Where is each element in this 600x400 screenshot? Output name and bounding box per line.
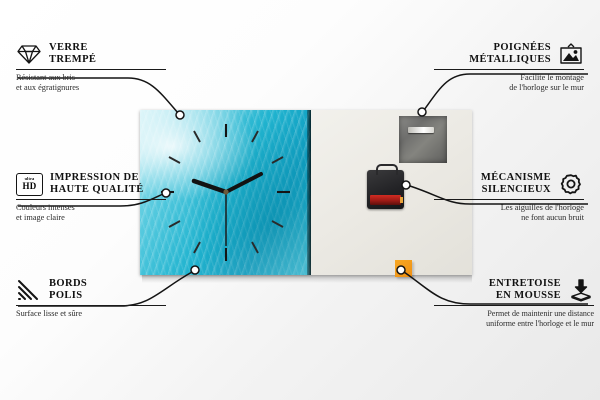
feature-verre-trempe: VERRE TREMPÉ Résistant aux bris et aux é… bbox=[16, 42, 166, 93]
feature-subtitle-line1: Résistant aux bris bbox=[16, 73, 166, 83]
quartz-movement bbox=[367, 170, 404, 209]
feature-divider bbox=[434, 199, 584, 200]
feature-poignees-metalliques: POIGNÉES MÉTALLIQUES Facilite le montage… bbox=[434, 42, 584, 93]
feature-divider bbox=[16, 305, 166, 306]
feature-divider bbox=[434, 305, 594, 306]
feature-title-line2: HAUTE QUALITÉ bbox=[50, 184, 144, 196]
feature-subtitle-line1: Les aiguilles de l'horloge bbox=[434, 203, 584, 213]
feature-title-line2: SILENCIEUX bbox=[481, 184, 551, 196]
feature-header: POIGNÉES MÉTALLIQUES bbox=[434, 42, 584, 66]
feature-subtitle: Permet de maintenir une distance uniform… bbox=[434, 309, 594, 329]
metal-hanger-plate bbox=[399, 116, 447, 163]
feature-subtitle-line1: Couleurs intenses bbox=[16, 203, 166, 213]
feature-title-line1: MÉCANISME bbox=[481, 172, 551, 184]
feature-subtitle-line2: et aux égratignures bbox=[16, 83, 166, 93]
feature-subtitle-line1: Facilite le montage bbox=[434, 73, 584, 83]
feature-title: MÉCANISME SILENCIEUX bbox=[481, 172, 551, 196]
feature-subtitle: Facilite le montage de l'horloge sur le … bbox=[434, 73, 584, 93]
feature-title-line1: BORDS bbox=[49, 278, 87, 290]
diagonal-stripes-icon bbox=[16, 278, 42, 302]
feature-subtitle-line2: ne font aucun bruit bbox=[434, 213, 584, 223]
feature-subtitle: Résistant aux bris et aux égratignures bbox=[16, 73, 166, 93]
feature-mecanisme-silencieux: MÉCANISME SILENCIEUX Les aiguilles de l'… bbox=[434, 172, 584, 223]
feature-subtitle: Surface lisse et sûre bbox=[16, 309, 166, 319]
infographic-canvas: VERRE TREMPÉ Résistant aux bris et aux é… bbox=[0, 0, 600, 400]
hanger-slot bbox=[408, 127, 434, 133]
feature-divider bbox=[434, 69, 584, 70]
feature-subtitle-line1: Permet de maintenir une distance bbox=[434, 309, 594, 319]
feature-subtitle: Les aiguilles de l'horloge ne font aucun… bbox=[434, 203, 584, 223]
feature-header: BORDS POLIS bbox=[16, 278, 166, 302]
feature-subtitle-line1: Surface lisse et sûre bbox=[16, 309, 166, 319]
feature-title-line1: VERRE bbox=[49, 42, 96, 54]
product-shadow bbox=[142, 274, 472, 283]
gear-icon bbox=[558, 172, 584, 196]
feature-subtitle-line2: de l'horloge sur le mur bbox=[434, 83, 584, 93]
feature-title: BORDS POLIS bbox=[49, 278, 87, 302]
feature-divider bbox=[16, 199, 166, 200]
feature-header: ultra HD IMPRESSION DE HAUTE QUALITÉ bbox=[16, 172, 166, 196]
hour-hand bbox=[194, 181, 226, 192]
picture-hanger-icon bbox=[558, 42, 584, 66]
feature-title: IMPRESSION DE HAUTE QUALITÉ bbox=[50, 172, 144, 196]
feature-entretoise-en-mousse: ENTRETOISE EN MOUSSE Permet de maintenir… bbox=[434, 278, 594, 329]
ultra-hd-large-text: HD bbox=[23, 182, 37, 191]
feature-subtitle-line2: et image claire bbox=[16, 213, 166, 223]
feature-title-line2: TREMPÉ bbox=[49, 54, 96, 66]
feature-title-line1: IMPRESSION DE bbox=[50, 172, 144, 184]
movement-bail bbox=[376, 164, 398, 175]
ultra-hd-badge-icon: ultra HD bbox=[16, 173, 43, 196]
feature-title-line1: ENTRETOISE bbox=[489, 278, 561, 290]
feature-impression-haute-qualite: ultra HD IMPRESSION DE HAUTE QUALITÉ Cou… bbox=[16, 172, 166, 223]
feature-title-line2: MÉTALLIQUES bbox=[469, 54, 551, 66]
feature-divider bbox=[16, 69, 166, 70]
feature-subtitle-line2: uniforme entre l'horloge et le mur bbox=[434, 319, 594, 329]
hands-hub bbox=[223, 189, 228, 194]
feature-header: ENTRETOISE EN MOUSSE bbox=[434, 278, 594, 302]
press-down-pad-icon bbox=[568, 278, 594, 302]
feature-bords-polis: BORDS POLIS Surface lisse et sûre bbox=[16, 278, 166, 319]
feature-title: VERRE TREMPÉ bbox=[49, 42, 96, 66]
feature-subtitle: Couleurs intenses et image claire bbox=[16, 203, 166, 223]
minute-hand bbox=[226, 174, 261, 192]
feature-title: POIGNÉES MÉTALLIQUES bbox=[469, 42, 551, 66]
feature-title-line1: POIGNÉES bbox=[469, 42, 551, 54]
foam-spacer bbox=[395, 260, 412, 277]
feature-header: MÉCANISME SILENCIEUX bbox=[434, 172, 584, 196]
feature-title-line2: POLIS bbox=[49, 290, 87, 302]
feature-header: VERRE TREMPÉ bbox=[16, 42, 166, 66]
feature-title: ENTRETOISE EN MOUSSE bbox=[489, 278, 561, 302]
diamond-icon bbox=[16, 42, 42, 66]
feature-title-line2: EN MOUSSE bbox=[489, 290, 561, 302]
battery bbox=[370, 195, 401, 205]
